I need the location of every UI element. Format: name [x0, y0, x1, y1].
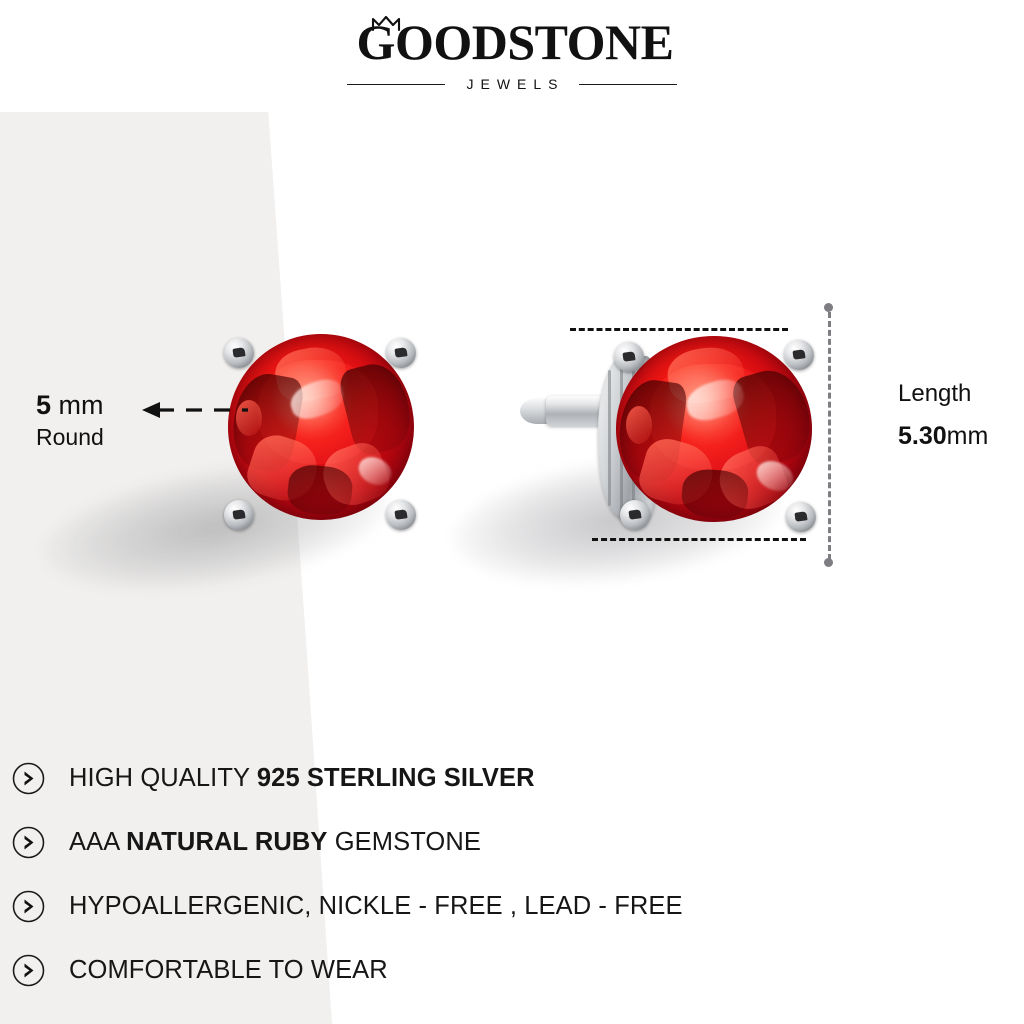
brand-tagline-row: JEWELS	[0, 76, 1024, 92]
left-prong-top-right	[386, 338, 416, 368]
tagline-rule-left	[347, 84, 445, 85]
gem-facets	[616, 336, 812, 522]
gem-facets	[228, 334, 414, 520]
right-prong-bottom-right	[786, 502, 816, 532]
feature-list: HIGH QUALITY 925 STERLING SILVER AAA NAT…	[0, 746, 1024, 1002]
width-value-row: 5 mm	[36, 388, 104, 422]
length-caption: Length	[898, 377, 988, 411]
width-unit: mm	[51, 390, 103, 420]
feature-text: HIGH QUALITY 925 STERLING SILVER	[69, 764, 535, 793]
right-gemstone	[616, 336, 812, 522]
length-dimension-cap-top	[824, 303, 833, 312]
gem-shape: Round	[36, 422, 104, 452]
length-value-row: 5.30mm	[898, 419, 988, 453]
left-gemstone	[228, 334, 414, 520]
length-dimension-cap-bottom	[824, 558, 833, 567]
feature-text: HYPOALLERGENIC, NICKLE - FREE , LEAD - F…	[69, 892, 683, 921]
feature-text: AAA NATURAL RUBY GEMSTONE	[69, 828, 481, 857]
left-prong-bottom-right	[386, 500, 416, 530]
width-value: 5	[36, 390, 51, 420]
tagline-rule-right	[579, 84, 677, 85]
left-arrow-icon	[140, 400, 248, 420]
length-dimension-line	[828, 312, 831, 560]
left-prong-top-left	[224, 338, 254, 368]
product-infographic: GOODSTONE JEWELS	[0, 0, 1024, 1024]
feature-item: HYPOALLERGENIC, NICKLE - FREE , LEAD - F…	[0, 874, 1024, 938]
length-measurement-label: Length 5.30mm	[898, 377, 988, 453]
feature-item: AAA NATURAL RUBY GEMSTONE	[0, 810, 1024, 874]
right-prong-top-left	[614, 342, 644, 372]
feature-item: HIGH QUALITY 925 STERLING SILVER	[0, 746, 1024, 810]
length-value: 5.30	[898, 422, 947, 450]
length-guide-top	[570, 328, 788, 331]
chevron-circle-icon	[12, 762, 45, 795]
feature-item: COMFORTABLE TO WEAR	[0, 938, 1024, 1002]
chevron-circle-icon	[12, 954, 45, 987]
right-prong-bottom-left	[620, 500, 650, 530]
chevron-circle-icon	[12, 890, 45, 923]
length-unit: mm	[947, 422, 989, 450]
length-guide-bottom	[592, 538, 806, 541]
brand-tagline: JEWELS	[459, 76, 564, 92]
chevron-circle-icon	[12, 826, 45, 859]
brand-name: GOODSTONE	[0, 14, 1024, 70]
brand-logo: GOODSTONE JEWELS	[0, 14, 1024, 92]
crown-icon	[371, 16, 401, 32]
left-prong-bottom-left	[224, 500, 254, 530]
feature-text: COMFORTABLE TO WEAR	[69, 956, 388, 985]
width-measurement-label: 5 mm Round	[36, 388, 104, 452]
right-prong-top-right	[784, 340, 814, 370]
